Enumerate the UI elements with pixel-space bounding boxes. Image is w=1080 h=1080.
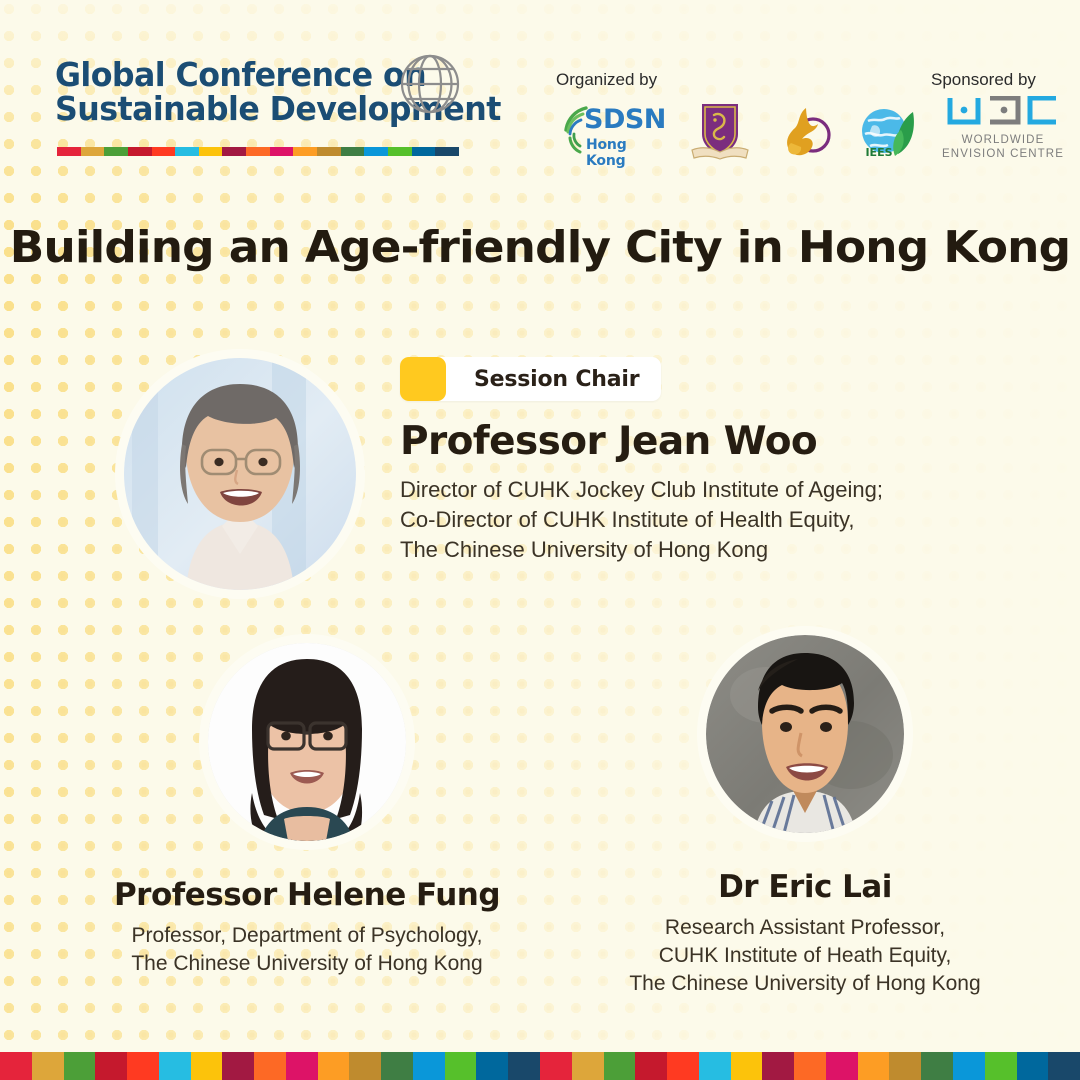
- sdg-color-bar-footer: [0, 1052, 1080, 1080]
- speaker-2-name: Dr Eric Lai: [580, 869, 1030, 905]
- sdg-bar-segment: [826, 1052, 858, 1080]
- sdg-strip-segment: [57, 147, 81, 156]
- sdg-strip-segment: [364, 147, 388, 156]
- sdg-bar-segment: [540, 1052, 572, 1080]
- sdg-bar-segment: [953, 1052, 985, 1080]
- sponsored-by-group: Sponsored by: [931, 70, 1036, 90]
- sponsored-by-label: Sponsored by: [931, 70, 1036, 90]
- sdg-bar-segment: [286, 1052, 318, 1080]
- sdg-bar-segment: [858, 1052, 890, 1080]
- iees-logo-icon: IEES: [858, 104, 920, 162]
- sdg-bar-segment: [762, 1052, 794, 1080]
- sdg-strip-segment: [246, 147, 270, 156]
- affiliation-line: The Chinese University of Hong Kong: [580, 970, 1030, 998]
- sdg-bar-segment: [413, 1052, 445, 1080]
- sdg-bar-segment: [127, 1052, 159, 1080]
- badge-color-chip: [400, 357, 446, 401]
- phoenix-logo-icon: [774, 102, 836, 162]
- sdg-bar-segment: [985, 1052, 1017, 1080]
- sdg-strip-segment: [222, 147, 246, 156]
- sdg-strip-segment: [435, 147, 459, 156]
- affiliation-line: CUHK Institute of Heath Equity,: [580, 942, 1030, 970]
- globe-icon: [398, 52, 462, 116]
- sdg-bar-segment: [667, 1052, 699, 1080]
- sdg-bar-segment: [921, 1052, 953, 1080]
- affiliation-line: The Chinese University of Hong Kong: [82, 950, 532, 978]
- sdg-bar-segment: [445, 1052, 477, 1080]
- sdg-strip-segment: [412, 147, 436, 156]
- status-badge: Session Chair: [400, 357, 661, 401]
- speaker-card-2: Dr Eric Lai Research Assistant Professor…: [580, 635, 1030, 998]
- sdg-bar-segment: [159, 1052, 191, 1080]
- sdg-bar-segment: [191, 1052, 223, 1080]
- sdsn-logo-text: SDSN: [584, 104, 666, 135]
- avatar-speaker-1: [208, 643, 406, 841]
- sdg-bar-segment: [381, 1052, 413, 1080]
- session-chair-name: Professor Jean Woo: [400, 419, 1020, 464]
- sdg-bar-segment: [254, 1052, 286, 1080]
- avatar-speaker-2: [706, 635, 904, 833]
- sdg-bar-segment: [32, 1052, 64, 1080]
- organized-by-label: Organized by: [556, 70, 657, 90]
- sdg-strip-segment: [104, 147, 128, 156]
- speaker-2-affiliation: Research Assistant Professor, CUHK Insti…: [580, 914, 1030, 998]
- session-chair-affiliation: Director of CUHK Jockey Club Institute o…: [400, 475, 1020, 565]
- sdg-bar-segment: [476, 1052, 508, 1080]
- sdg-bar-segment: [0, 1052, 32, 1080]
- wec-logo-line-2: ENVISION CENTRE: [942, 148, 1064, 160]
- sdg-strip-segment: [317, 147, 341, 156]
- affiliation-line: Professor, Department of Psychology,: [82, 922, 532, 950]
- badge-label: Session Chair: [474, 367, 639, 392]
- sdg-bar-segment: [508, 1052, 540, 1080]
- sdg-strip-segment: [199, 147, 223, 156]
- sdg-bar-segment: [699, 1052, 731, 1080]
- sdg-bar-segment: [794, 1052, 826, 1080]
- sdg-strip-segment: [388, 147, 412, 156]
- sdg-bar-segment: [635, 1052, 667, 1080]
- speaker-1-name: Professor Helene Fung: [82, 877, 532, 913]
- avatar-session-chair: [124, 358, 356, 590]
- sdg-color-strip: [57, 147, 459, 156]
- sdg-bar-segment: [604, 1052, 636, 1080]
- sdg-strip-segment: [175, 147, 199, 156]
- sdg-strip-segment: [293, 147, 317, 156]
- sdg-bar-segment: [95, 1052, 127, 1080]
- organized-by-group: Organized by: [556, 70, 657, 90]
- sdg-strip-segment: [128, 147, 152, 156]
- speaker-card-1: Professor Helene Fung Professor, Departm…: [82, 643, 532, 978]
- affiliation-line: Co-Director of CUHK Institute of Health …: [400, 505, 1020, 535]
- sdg-bar-segment: [889, 1052, 921, 1080]
- sdg-bar-segment: [731, 1052, 763, 1080]
- affiliation-line: Research Assistant Professor,: [580, 914, 1030, 942]
- sdg-bar-segment: [222, 1052, 254, 1080]
- iees-logo-text: IEES: [865, 146, 892, 159]
- wec-mark-icon: [942, 96, 1064, 130]
- session-chair-info: Session Chair Professor Jean Woo Directo…: [400, 357, 1020, 565]
- poster-header: Global Conference on Sustainable Develop…: [0, 0, 1080, 178]
- sdg-strip-segment: [152, 147, 176, 156]
- sdg-strip-segment: [341, 147, 365, 156]
- affiliation-line: The Chinese University of Hong Kong: [400, 535, 1020, 565]
- cuhk-crest-icon: [688, 100, 752, 162]
- wec-logo-line-1: WORLDWIDE: [942, 134, 1064, 146]
- sdg-bar-segment: [572, 1052, 604, 1080]
- sdg-bar-segment: [318, 1052, 350, 1080]
- sdg-strip-segment: [270, 147, 294, 156]
- poster-canvas: Global Conference on Sustainable Develop…: [0, 0, 1080, 1080]
- sdg-strip-segment: [81, 147, 105, 156]
- sdg-bar-segment: [64, 1052, 96, 1080]
- partner-logo-row: SDSN Hong Kong: [556, 96, 1064, 162]
- page-title: Building an Age-friendly City in Hong Ko…: [0, 222, 1080, 273]
- sdsn-logo-subtext: Hong Kong: [586, 137, 666, 169]
- wec-logo: WORLDWIDE ENVISION CENTRE: [942, 96, 1064, 162]
- speaker-1-affiliation: Professor, Department of Psychology, The…: [82, 922, 532, 978]
- sdsn-logo: SDSN Hong Kong: [556, 100, 666, 162]
- sdg-bar-segment: [1048, 1052, 1080, 1080]
- sdg-bar-segment: [349, 1052, 381, 1080]
- sdg-bar-segment: [1017, 1052, 1049, 1080]
- affiliation-line: Director of CUHK Jockey Club Institute o…: [400, 475, 1020, 505]
